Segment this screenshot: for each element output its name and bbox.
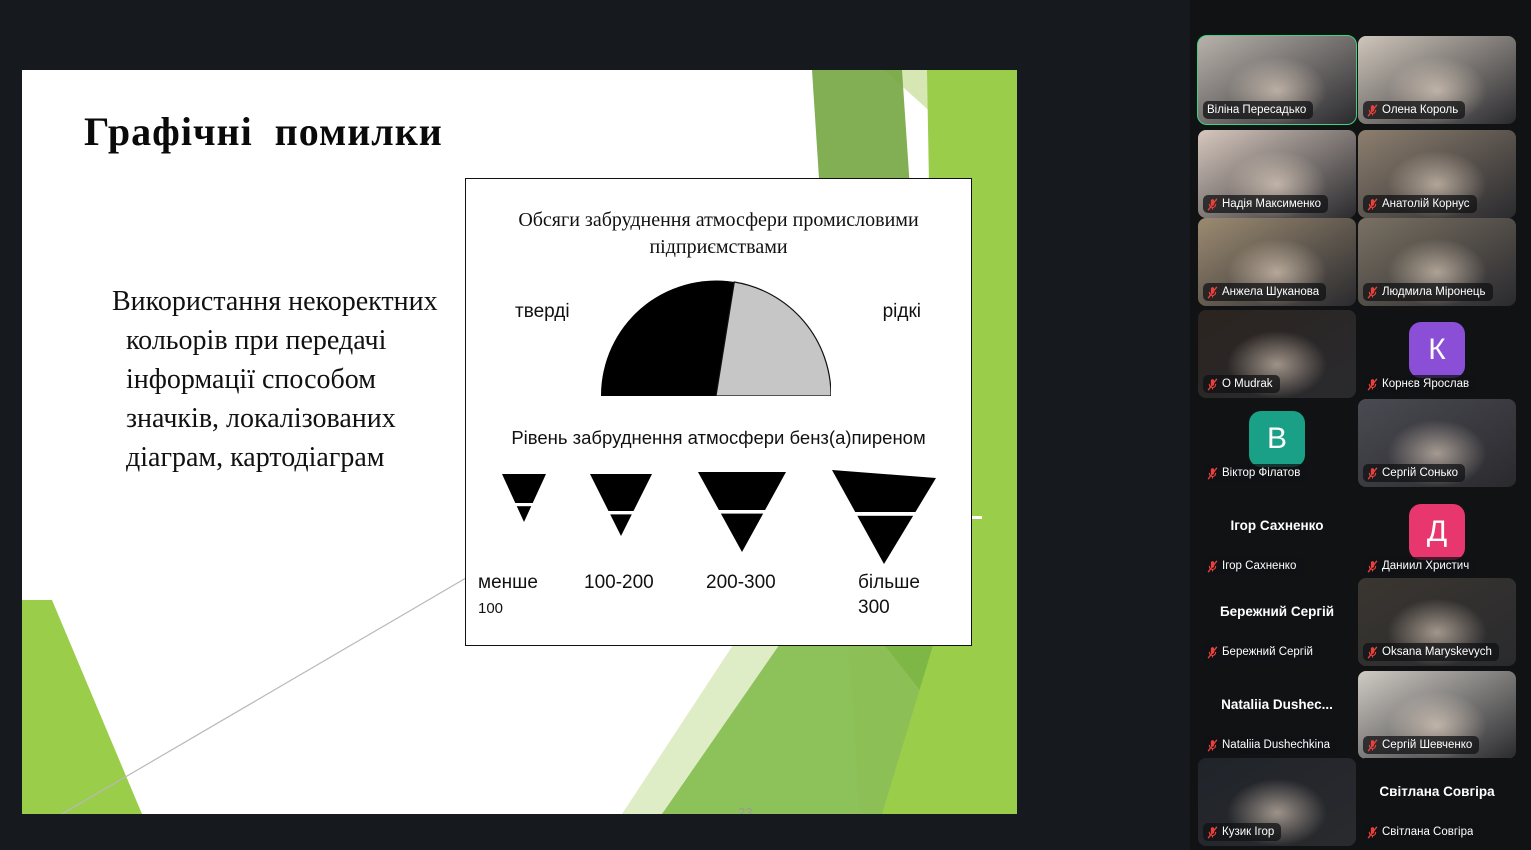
symbol-item xyxy=(832,470,936,564)
symbol-chart-title: Рівень забруднення атмосфери бенз(а)пире… xyxy=(466,424,971,451)
participant-name: Корнєв Ярослав xyxy=(1382,377,1469,391)
semicircle-label-right: рідкі xyxy=(883,301,921,323)
symbol-item xyxy=(590,474,652,536)
participant-tile[interactable]: Віліна Пересадько xyxy=(1198,36,1356,124)
mic-muted-icon xyxy=(1367,467,1378,480)
participant-name: Надія Максименко xyxy=(1222,197,1321,211)
participant-name: O Mudrak xyxy=(1222,377,1273,391)
participant-large-name: Бережний Сергій xyxy=(1198,604,1356,619)
slice-tverdi xyxy=(601,281,734,396)
symbol-item xyxy=(698,472,786,552)
mic-muted-icon xyxy=(1207,826,1218,839)
participant-tile[interactable]: Надія Максименко xyxy=(1198,130,1356,218)
participant-name-badge: Сергій Шевченко xyxy=(1363,736,1479,754)
participant-tile[interactable]: Олена Король xyxy=(1358,36,1516,124)
participant-tile[interactable]: Бережний СергійБережний Сергій xyxy=(1198,578,1356,666)
mic-muted-icon xyxy=(1367,198,1378,211)
triangle-icon-2 xyxy=(590,474,652,536)
participant-name-badge: Анатолій Корнус xyxy=(1363,195,1477,213)
participant-tile[interactable]: ККорнєв Ярослав xyxy=(1358,310,1516,398)
participant-name-badge: O Mudrak xyxy=(1203,375,1280,393)
participant-large-name: Nataliia Dushec... xyxy=(1198,697,1356,712)
participant-tile[interactable]: Анатолій Корнус xyxy=(1358,130,1516,218)
participant-name: Кузик Ігор xyxy=(1222,825,1274,839)
symbol-label-2: 100-200 xyxy=(584,570,654,595)
participant-name-badge: Надія Максименко xyxy=(1203,195,1328,213)
participant-tile[interactable]: Світлана СовгіраСвітлана Совгіра xyxy=(1358,758,1516,846)
participant-name: Oksana Maryskevych xyxy=(1382,645,1492,659)
participant-tile[interactable]: O Mudrak xyxy=(1198,310,1356,398)
slide-number: 23 xyxy=(738,805,752,814)
participant-tile[interactable]: ДДаниил Христич xyxy=(1358,492,1516,580)
chart-card: Обсяги забруднення атмосфери промисловим… xyxy=(465,178,972,646)
participant-name-badge: Олена Король xyxy=(1363,101,1465,119)
participant-large-name: Ігор Сахненко xyxy=(1198,518,1356,533)
semicircle-label-left: тверді xyxy=(515,301,570,323)
page-title: Графічні помилки xyxy=(84,108,443,155)
participant-name-badge: Даниил Христич xyxy=(1363,557,1476,575)
triangle-icon-4 xyxy=(832,470,936,564)
participant-name-badge: Бережний Сергій xyxy=(1203,643,1320,661)
mic-muted-icon xyxy=(1207,378,1218,391)
participant-name-badge: Корнєв Ярослав xyxy=(1363,375,1476,393)
participant-name-badge: Oksana Maryskevych xyxy=(1363,643,1499,661)
participant-name-badge: Nataliia Dushechkina xyxy=(1203,736,1337,754)
mic-muted-icon xyxy=(1207,286,1218,299)
semicircle-chart-title: Обсяги забруднення атмосфери промисловим… xyxy=(466,207,971,261)
participant-name: Світлана Совгіра xyxy=(1382,825,1473,839)
participant-name: Ігор Сахненко xyxy=(1222,559,1296,573)
shared-screen-stage: Графічні помилки Використання некоректни… xyxy=(0,0,1190,850)
mic-muted-icon xyxy=(1367,378,1378,391)
mic-muted-icon xyxy=(1207,560,1218,573)
participant-name: Сергій Сонько xyxy=(1382,466,1458,480)
participant-tile[interactable]: Сергій Сонько xyxy=(1358,399,1516,487)
participant-name: Анатолій Корнус xyxy=(1382,197,1470,211)
participant-name: Анжела Шуканова xyxy=(1222,285,1319,299)
participant-name: Бережний Сергій xyxy=(1222,645,1313,659)
mic-muted-icon xyxy=(1207,646,1218,659)
participant-tile[interactable]: ВВіктор Філатов xyxy=(1198,399,1356,487)
participant-tile[interactable]: Ігор СахненкоІгор Сахненко xyxy=(1198,492,1356,580)
avatar: Д xyxy=(1409,504,1465,560)
participant-name: Даниил Христич xyxy=(1382,559,1469,573)
presentation-slide: Графічні помилки Використання некоректни… xyxy=(22,70,1017,814)
avatar: В xyxy=(1249,411,1305,467)
symbol-chart: менше 100 100-200 xyxy=(466,464,971,564)
symbol-label-3: 200-300 xyxy=(706,570,776,595)
participant-name-badge: Ігор Сахненко xyxy=(1203,557,1303,575)
slice-ridki xyxy=(716,282,831,396)
participant-tile[interactable]: Кузик Ігор xyxy=(1198,758,1356,846)
participant-tile[interactable]: Анжела Шуканова xyxy=(1198,218,1356,306)
semicircle-chart-svg xyxy=(601,280,831,396)
participant-video-strip[interactable]: Віліна ПересадькоОлена КорольНадія Макси… xyxy=(1190,0,1531,850)
participant-large-name: Світлана Совгіра xyxy=(1358,784,1516,799)
participant-tile[interactable]: Oksana Maryskevych xyxy=(1358,578,1516,666)
participant-name: Сергій Шевченко xyxy=(1382,738,1472,752)
mic-muted-icon xyxy=(1207,198,1218,211)
semicircle-chart xyxy=(601,280,831,396)
participant-name-badge: Світлана Совгіра xyxy=(1363,823,1480,841)
participant-name-badge: Сергій Сонько xyxy=(1363,464,1465,482)
mic-muted-icon xyxy=(1367,826,1378,839)
mic-muted-icon xyxy=(1207,739,1218,752)
mic-muted-icon xyxy=(1367,286,1378,299)
participant-name: Олена Король xyxy=(1382,103,1458,117)
mic-muted-icon xyxy=(1207,467,1218,480)
participant-name: Віктор Філатов xyxy=(1222,466,1300,480)
participant-name-badge: Віліна Пересадько xyxy=(1203,101,1313,119)
avatar: К xyxy=(1409,322,1465,378)
participant-name: Nataliia Dushechkina xyxy=(1222,738,1330,752)
mic-muted-icon xyxy=(1367,646,1378,659)
zoom-meeting-window: Графічні помилки Використання некоректни… xyxy=(0,0,1531,850)
symbol-item xyxy=(502,474,546,522)
mic-muted-icon xyxy=(1367,560,1378,573)
triangle-icon-1 xyxy=(502,474,546,522)
participant-name-badge: Анжела Шуканова xyxy=(1203,283,1326,301)
participant-name: Віліна Пересадько xyxy=(1207,103,1306,117)
participant-tile[interactable]: Nataliia Dushec...Nataliia Dushechkina xyxy=(1198,671,1356,759)
mic-muted-icon xyxy=(1367,104,1378,117)
participant-name-badge: Віктор Філатов xyxy=(1203,464,1307,482)
slide-body-text: Використання некоректних кольорів при пе… xyxy=(112,282,442,477)
symbol-label-1: менше 100 xyxy=(478,570,538,621)
mic-muted-icon xyxy=(1367,739,1378,752)
participant-tile[interactable]: Сергій Шевченко xyxy=(1358,671,1516,759)
participant-tile[interactable]: Людмила Міронець xyxy=(1358,218,1516,306)
participant-name-badge: Кузик Ігор xyxy=(1203,823,1281,841)
participant-name-badge: Людмила Міронець xyxy=(1363,283,1493,301)
participant-name: Людмила Міронець xyxy=(1382,285,1486,299)
triangle-icon-3 xyxy=(698,472,786,552)
symbol-label-4: більше 300 xyxy=(858,570,920,620)
